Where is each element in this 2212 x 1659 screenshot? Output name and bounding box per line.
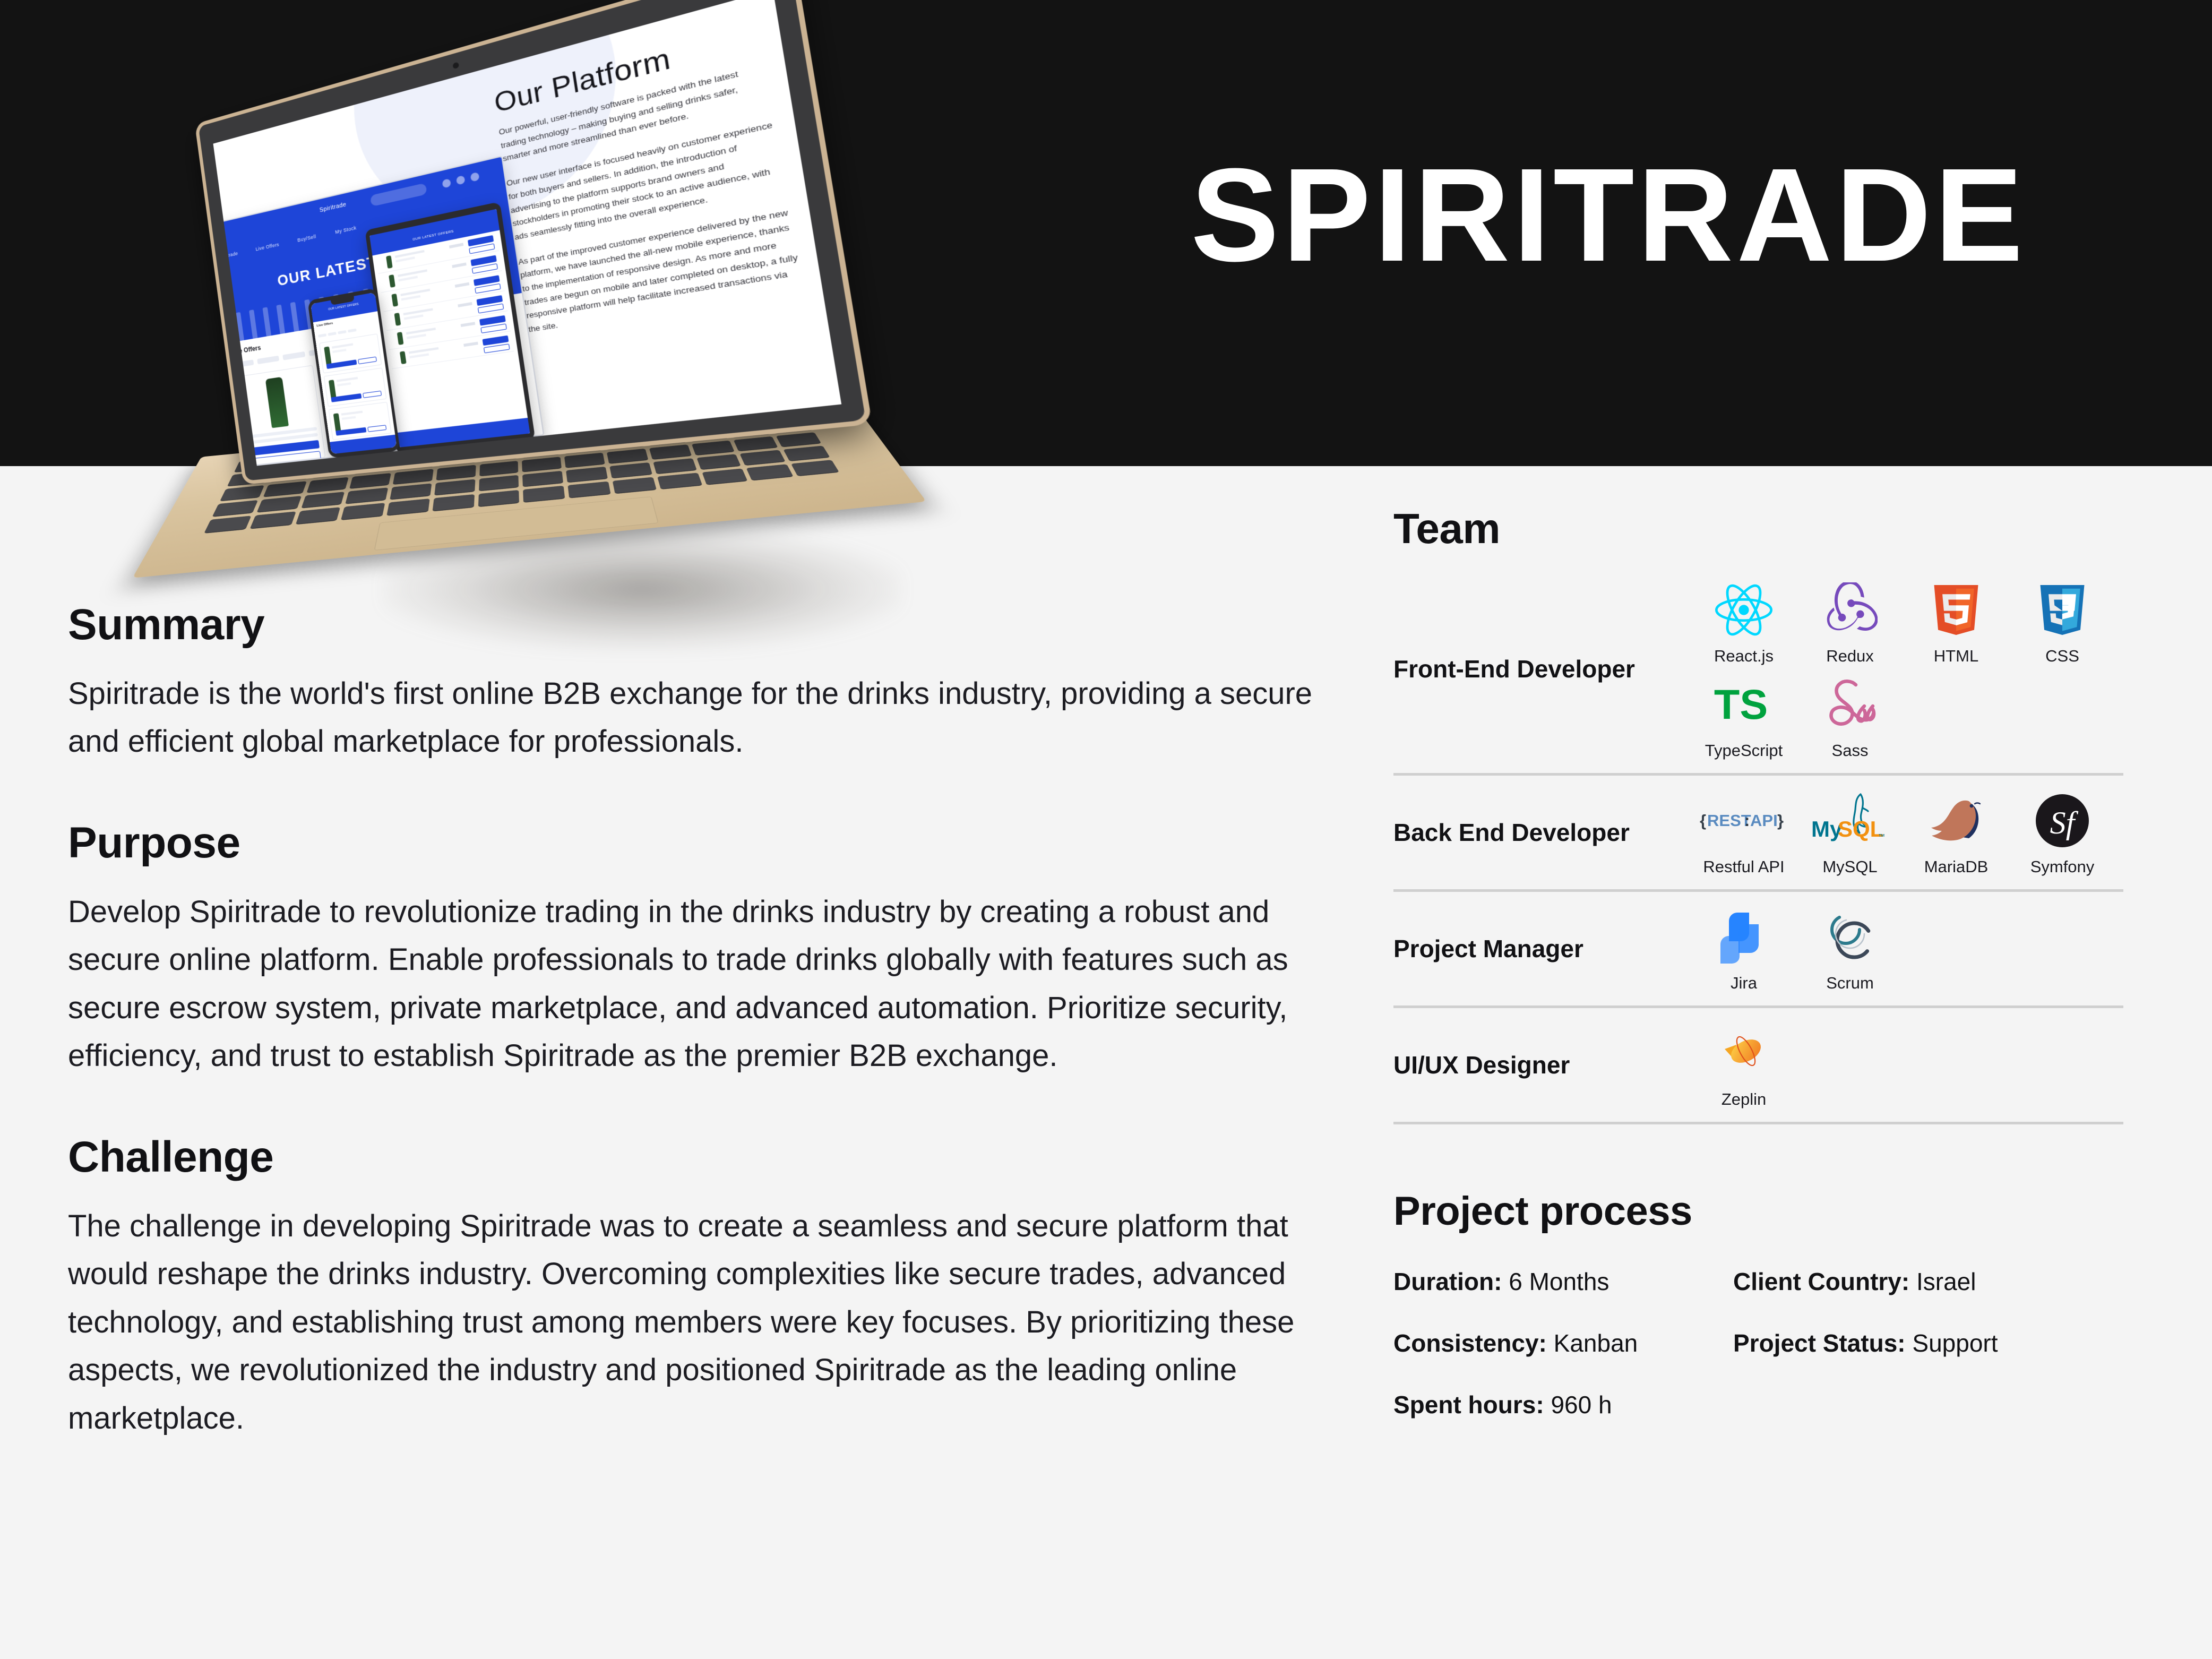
- tech-item-scrum[interactable]: Scrum: [1797, 901, 1903, 996]
- zeplin-icon: [1718, 1022, 1769, 1085]
- project-duration-value: 6 Months: [1509, 1268, 1609, 1295]
- tech-label: React.js: [1714, 647, 1774, 666]
- svg-text:™: ™: [1878, 832, 1885, 840]
- tech-item-typescript[interactable]: TS TypeScript: [1691, 669, 1797, 763]
- bell-icon[interactable]: [456, 175, 466, 185]
- tech-item-react[interactable]: React.js: [1691, 574, 1797, 669]
- svg-text:TS: TS: [1714, 681, 1768, 728]
- challenge-heading: Challenge: [68, 1132, 1331, 1182]
- project-status-value: Support: [1912, 1329, 1998, 1357]
- team-row: Project Manager Jira: [1393, 892, 2123, 1008]
- tech-label: Zeplin: [1722, 1090, 1766, 1109]
- project-status-label: Project Status:: [1733, 1329, 1906, 1357]
- project-duration-label: Duration:: [1393, 1268, 1502, 1295]
- tech-label: TypeScript: [1705, 741, 1783, 760]
- client-country: Client Country: Israel: [1733, 1267, 2137, 1296]
- summary-section: Summary Spiritrade is the world's first …: [68, 600, 1331, 766]
- tech-label: Sass: [1832, 741, 1869, 760]
- tech-label: MariaDB: [1924, 857, 1989, 876]
- slide-root: SPIRITRADE: [0, 0, 2212, 1659]
- project-status: Project Status: Support: [1733, 1329, 2137, 1357]
- project-process-grid: Duration: 6 Months Client Country: Israe…: [1393, 1267, 2137, 1419]
- app-search-input[interactable]: [370, 183, 427, 207]
- app-nav-item[interactable]: Buy/Sell: [297, 234, 316, 243]
- tech-item-zeplin[interactable]: Zeplin: [1691, 1018, 1797, 1112]
- app-nav-item[interactable]: My Stock: [335, 225, 357, 235]
- symfony-icon: Sf: [2035, 789, 2090, 852]
- mysql-icon: My SQL ™: [1810, 789, 1890, 852]
- phone-offer-row[interactable]: [329, 402, 392, 440]
- team-row: Front-End Developer: [1393, 565, 2123, 776]
- scrum-icon: [1822, 906, 1878, 968]
- sass-icon: [1818, 673, 1882, 736]
- team-role-label: UI/UX Designer: [1393, 1051, 1691, 1079]
- app-nav-item[interactable]: Live Offers: [255, 242, 279, 252]
- team-row: Back End Developer { REST : API }: [1393, 776, 2123, 892]
- svg-text:SQL: SQL: [1838, 816, 1883, 841]
- project-consistency-value: Kanban: [1554, 1329, 1638, 1357]
- tech-item-html[interactable]: HTML: [1903, 574, 2009, 669]
- tech-label: Symfony: [2030, 857, 2095, 876]
- phone-offer-row[interactable]: [324, 367, 387, 407]
- html5-icon: [1931, 579, 1981, 641]
- spent-hours: Spent hours: 960 h: [1393, 1390, 1733, 1419]
- tech-item-symfony[interactable]: Sf Symfony: [2009, 785, 2115, 880]
- phone-offer-row[interactable]: [319, 333, 382, 373]
- react-icon: [1715, 579, 1772, 641]
- webcam-icon: [452, 62, 459, 69]
- redux-icon: [1822, 579, 1878, 641]
- spent-hours-label: Spent hours:: [1393, 1391, 1544, 1419]
- app-topbar-icons: [436, 169, 490, 191]
- product-card[interactable]: [234, 365, 325, 466]
- project-process-section: Project process Duration: 6 Months Clien…: [1393, 1188, 2137, 1419]
- project-duration: Duration: 6 Months: [1393, 1267, 1733, 1296]
- right-content-column: Team Front-End Developer: [1393, 504, 2137, 1419]
- css3-icon: [2037, 579, 2087, 641]
- tech-label: Redux: [1826, 647, 1874, 666]
- team-table: Front-End Developer: [1393, 565, 2123, 1124]
- tech-label: CSS: [2045, 647, 2079, 666]
- team-role-label: Back End Developer: [1393, 818, 1691, 847]
- team-heading: Team: [1393, 504, 2137, 553]
- tech-item-restful-api[interactable]: { REST : API } Restful API: [1691, 785, 1797, 880]
- app-logo: Spiritrade: [319, 201, 347, 214]
- team-role-label: Project Manager: [1393, 934, 1691, 963]
- svg-text:}: }: [1777, 811, 1784, 830]
- tech-label: Restful API: [1703, 857, 1784, 876]
- bottle-image: [265, 377, 289, 428]
- purpose-section: Purpose Develop Spiritrade to revolution…: [68, 818, 1331, 1080]
- project-consistency: Consistency: Kanban: [1393, 1329, 1733, 1357]
- purpose-body: Develop Spiritrade to revolutionize trad…: [68, 888, 1331, 1080]
- purpose-heading: Purpose: [68, 818, 1331, 868]
- client-country-label: Client Country:: [1733, 1268, 1909, 1295]
- tech-list: React.js Redux: [1691, 574, 2123, 763]
- tech-item-sass[interactable]: Sass: [1797, 669, 1903, 763]
- tech-item-redux[interactable]: Redux: [1797, 574, 1903, 669]
- laptop-mockup: Our Platform Our powerful, user-friendly…: [175, 80, 1003, 664]
- tech-item-jira[interactable]: Jira: [1691, 901, 1797, 996]
- brand-title: SPIRITRADE: [1104, 149, 2113, 281]
- tech-label: MySQL: [1822, 857, 1877, 876]
- svg-text:{: {: [1700, 811, 1706, 830]
- svg-text:Sf: Sf: [2050, 805, 2079, 840]
- summary-body: Spiritrade is the world's first online B…: [68, 670, 1331, 766]
- tech-item-css[interactable]: CSS: [2009, 574, 2115, 669]
- tech-label: Scrum: [1826, 974, 1874, 993]
- tech-list: Zeplin: [1691, 1018, 2123, 1112]
- laptop-device: Our Platform Our powerful, user-friendly…: [132, 44, 1046, 679]
- tech-list: { REST : API } Restful API: [1691, 785, 2123, 880]
- left-content-column: Summary Spiritrade is the world's first …: [68, 600, 1331, 1442]
- svg-text:API: API: [1750, 811, 1778, 830]
- mariadb-icon: [1922, 789, 1991, 852]
- summary-heading: Summary: [68, 600, 1331, 650]
- heart-icon[interactable]: [442, 178, 451, 188]
- svg-text::: :: [1744, 811, 1750, 830]
- tech-item-mysql[interactable]: My SQL ™ MySQL: [1797, 785, 1903, 880]
- team-role-label: Front-End Developer: [1393, 655, 1691, 683]
- project-process-heading: Project process: [1393, 1188, 2137, 1234]
- challenge-section: Challenge The challenge in developing Sp…: [68, 1132, 1331, 1442]
- spent-hours-value: 960 h: [1551, 1391, 1612, 1419]
- app-nav-item[interactable]: Spiritrade: [218, 251, 238, 260]
- tech-item-mariadb[interactable]: MariaDB: [1903, 785, 2009, 880]
- tech-label: Jira: [1731, 974, 1757, 993]
- tech-list: Jira Scrum: [1691, 901, 2123, 996]
- challenge-body: The challenge in developing Spiritrade w…: [68, 1202, 1331, 1442]
- tech-label: HTML: [1934, 647, 1978, 666]
- project-consistency-label: Consistency:: [1393, 1329, 1547, 1357]
- jira-icon: [1718, 906, 1769, 968]
- client-country-value: Israel: [1916, 1268, 1976, 1295]
- typescript-icon: TS: [1713, 673, 1775, 736]
- restful-api-icon: { REST : API }: [1699, 789, 1789, 852]
- user-icon[interactable]: [470, 172, 480, 182]
- team-row: UI/UX Designer: [1393, 1008, 2123, 1124]
